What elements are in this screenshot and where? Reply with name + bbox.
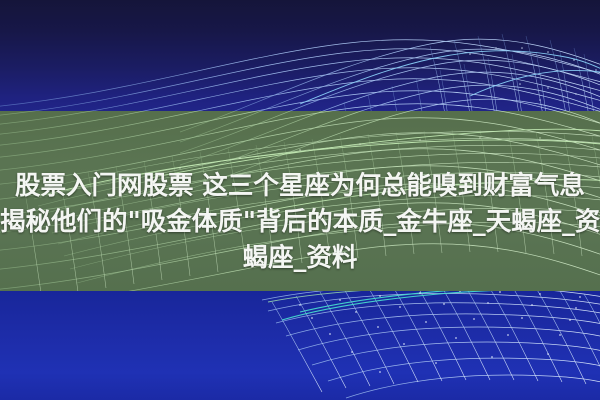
title-line-2: 揭秘他们的"吸金体质"背后的本质_金牛座_天蝎座_资: [0, 204, 600, 240]
thumbnail-banner: 股票入门网股票 这三个星座为何总能嗅到财富气息 揭秘他们的"吸金体质"背后的本质…: [0, 0, 600, 400]
title-overlay: 股票入门网股票 这三个星座为何总能嗅到财富气息 揭秘他们的"吸金体质"背后的本质…: [0, 168, 600, 276]
title-line-3: 蝎座_资料: [0, 240, 600, 276]
title-line-1: 股票入门网股票 这三个星座为何总能嗅到财富气息: [0, 168, 600, 204]
